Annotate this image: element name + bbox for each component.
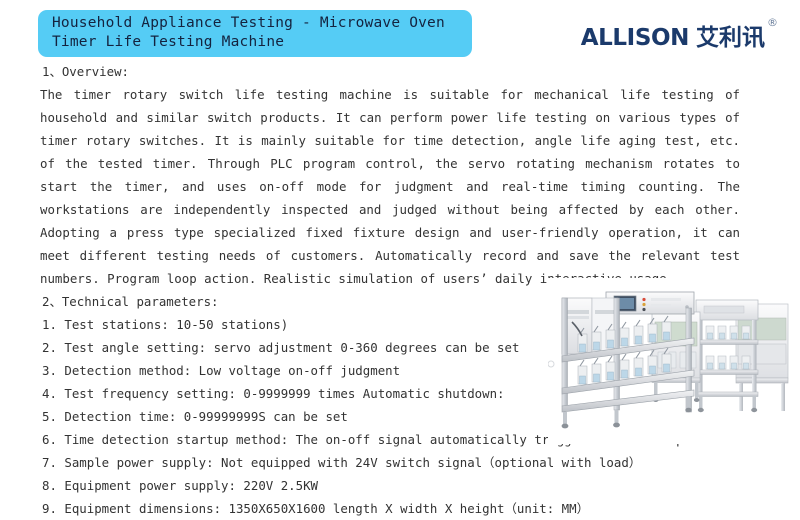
logo-cjk-text: 艾利讯 (696, 26, 765, 50)
page-title-line-1: Household Appliance Testing - Microwave … (52, 14, 458, 33)
list-item: 9. Equipment dimensions: 1350X650X1600 l… (40, 497, 760, 520)
logo-latin-text: ALLISON (581, 26, 689, 50)
title-banner: Household Appliance Testing - Microwave … (38, 10, 472, 57)
list-item: 8. Equipment power supply: 220V 2.5KW (40, 474, 760, 497)
product-spec-page: Household Appliance Testing - Microwave … (0, 0, 800, 450)
overview-paragraph: The timer rotary switch life testing mac… (40, 83, 740, 290)
overview-heading: 1、Overview: (40, 60, 760, 83)
machine-photo (548, 278, 794, 444)
registered-trademark-icon: ® (767, 17, 778, 28)
page-title-line-2: Timer Life Testing Machine (52, 33, 458, 52)
page-header: Household Appliance Testing - Microwave … (0, 0, 800, 60)
list-item: 7. Sample power supply: Not equipped wit… (40, 451, 760, 474)
allison-logo: ALLISON 艾利讯 ® (581, 26, 778, 50)
